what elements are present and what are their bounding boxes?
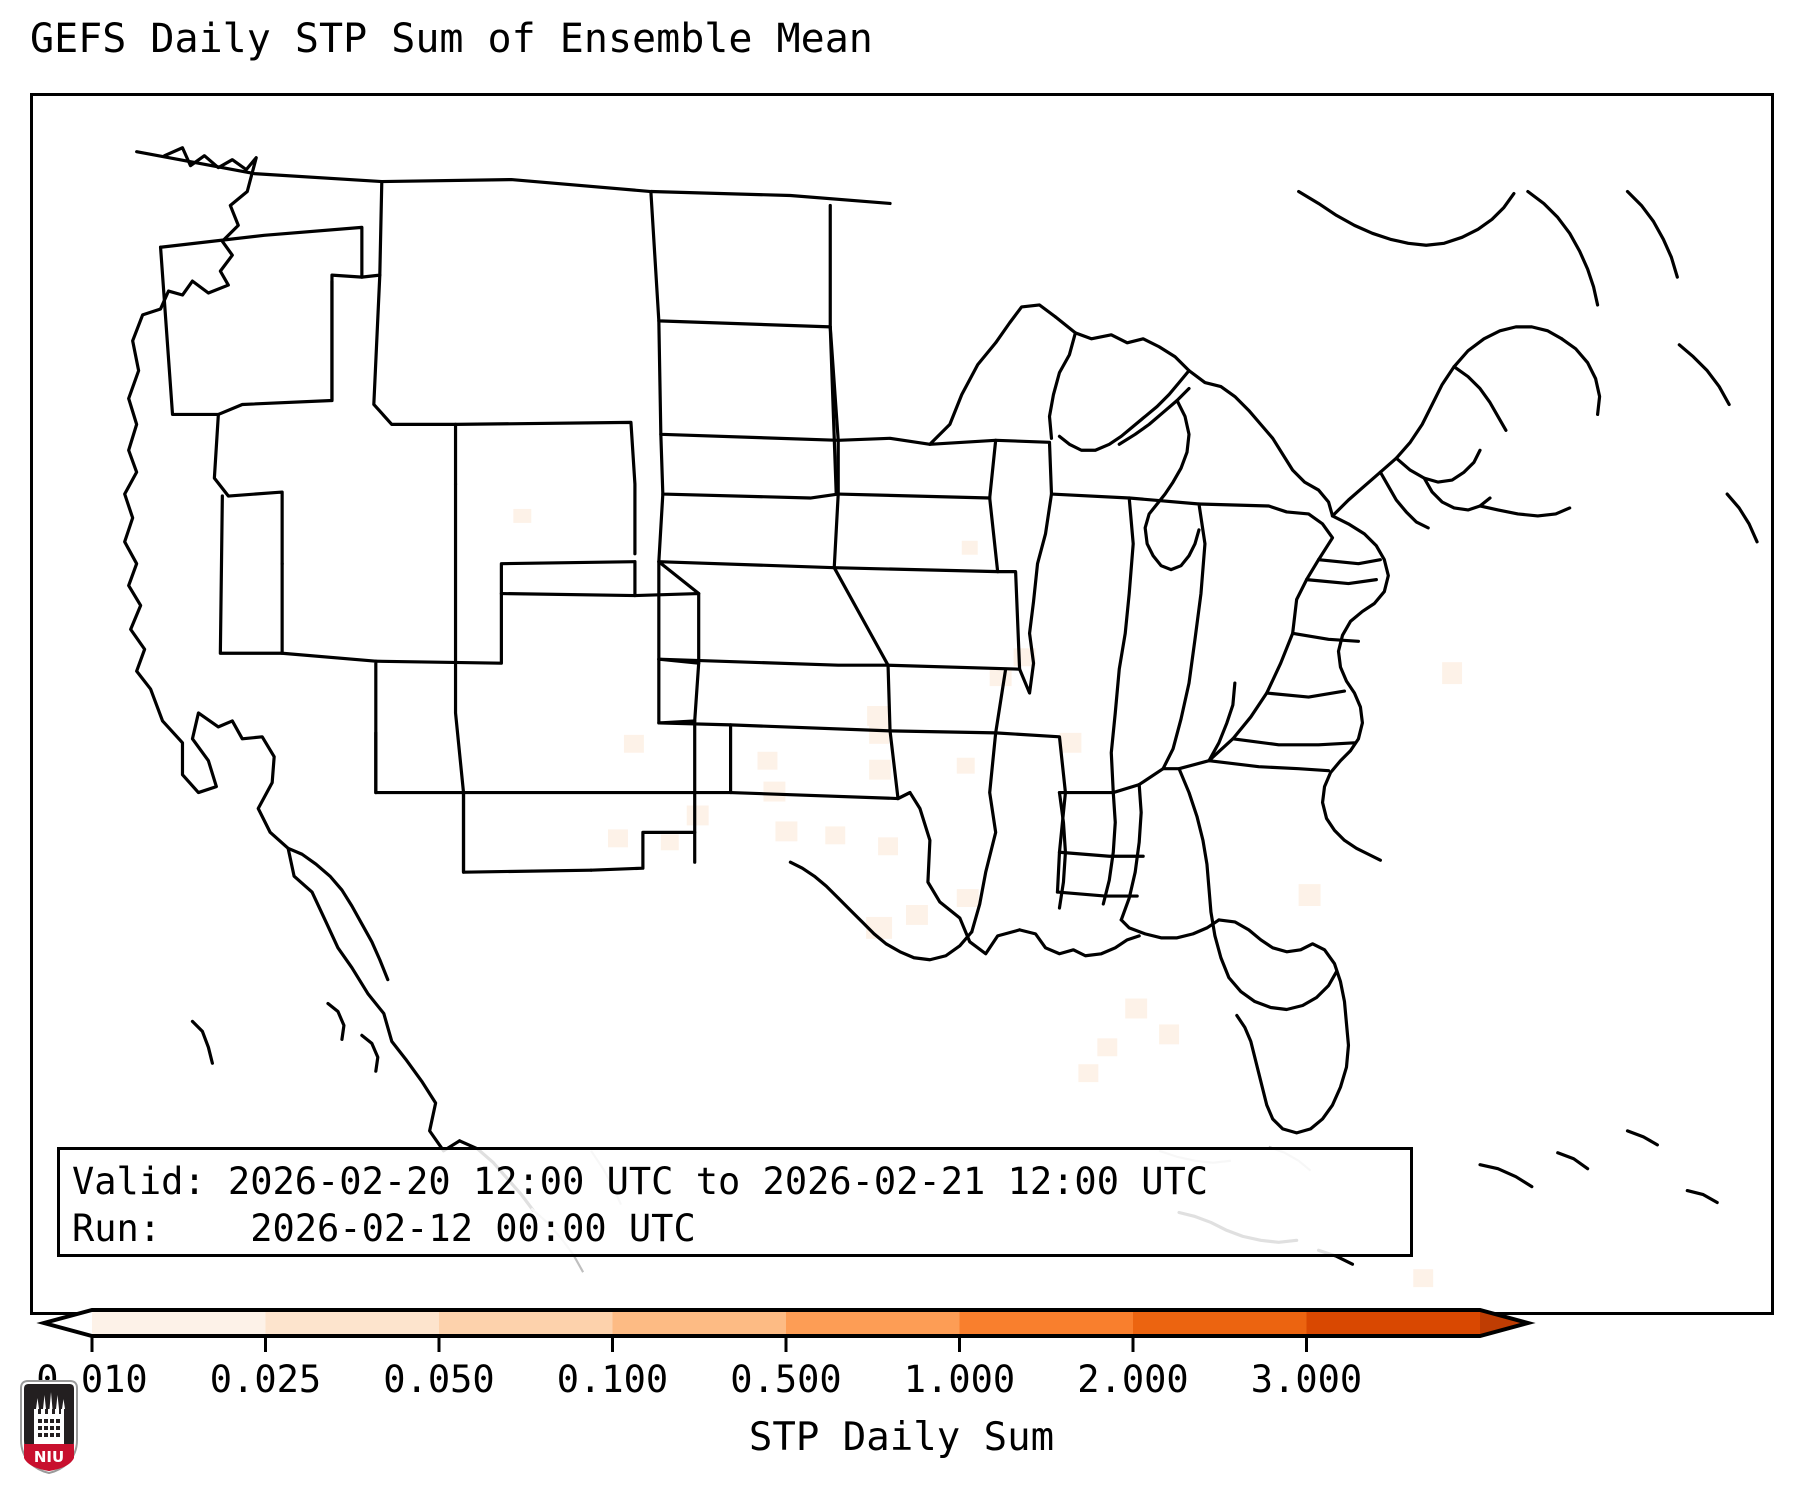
- colorbar-segments: [44, 1310, 1528, 1336]
- stp-cell: [990, 668, 1012, 686]
- stp-cell: [957, 758, 975, 774]
- colorbar-tick-label: 0.025: [210, 1358, 321, 1401]
- colorbar-axis-label: STP Daily Sum: [0, 1415, 1803, 1460]
- run-time-line: Run: 2026-02-12 00:00 UTC: [72, 1205, 1398, 1252]
- map-outlines: [125, 148, 1757, 1264]
- stp-cell: [957, 889, 979, 907]
- stp-cell: [869, 760, 891, 780]
- stp-cell: [1413, 1269, 1433, 1287]
- stp-cell: [608, 829, 628, 847]
- stp-cell: [513, 509, 531, 523]
- colorbar[interactable]: 0.0100.0250.0500.1000.5001.0002.0003.000: [0, 1300, 1803, 1500]
- colorbar-segment: [613, 1310, 787, 1336]
- stp-cell: [757, 752, 777, 770]
- colorbar-tick-label: 3.000: [1251, 1358, 1362, 1401]
- stp-cell: [1159, 1024, 1179, 1044]
- niu-shield-icon: NIU: [18, 1378, 80, 1476]
- niu-logo-text: NIU: [34, 1448, 64, 1466]
- stp-cell: [763, 782, 785, 802]
- stp-cell: [825, 826, 845, 844]
- colorbar-segment: [960, 1310, 1134, 1336]
- stp-cell: [1078, 1064, 1098, 1082]
- stp-cell: [1125, 999, 1147, 1019]
- colorbar-tick-label: 0.500: [730, 1358, 841, 1401]
- stp-cell: [624, 735, 644, 753]
- valid-time-line: Valid: 2026-02-20 12:00 UTC to 2026-02-2…: [72, 1158, 1398, 1205]
- colorbar-segment: [266, 1310, 440, 1336]
- niu-logo: NIU: [18, 1378, 80, 1476]
- colorbar-tick-label: 1.000: [904, 1358, 1015, 1401]
- figure-canvas: GEFS Daily STP Sum of Ensemble Mean: [0, 0, 1803, 1500]
- colorbar-segment: [1133, 1310, 1307, 1336]
- stp-cell: [878, 837, 898, 855]
- page-title: GEFS Daily STP Sum of Ensemble Mean: [30, 16, 873, 62]
- colorbar-segment: [439, 1310, 613, 1336]
- colorbar-segment: [786, 1310, 960, 1336]
- stp-cell: [1442, 662, 1462, 684]
- stp-cell: [1299, 884, 1321, 906]
- map-panel[interactable]: [30, 93, 1774, 1315]
- stp-cell: [775, 821, 797, 841]
- colorbar-tick-label: 0.100: [557, 1358, 668, 1401]
- stp-cell: [1059, 733, 1081, 753]
- colorbar-ticks: [92, 1336, 1307, 1352]
- info-box: Valid: 2026-02-20 12:00 UTC to 2026-02-2…: [57, 1147, 1413, 1257]
- stp-cell: [869, 726, 889, 744]
- stp-cell: [962, 541, 978, 555]
- stp-cell: [687, 805, 709, 825]
- colorbar-segment: [92, 1310, 266, 1336]
- conus-map: [33, 96, 1771, 1312]
- stp-cell: [1097, 1038, 1117, 1056]
- colorbar-tick-label: 0.050: [383, 1358, 494, 1401]
- stp-cell: [906, 905, 928, 925]
- stp-cell: [867, 706, 889, 726]
- colorbar-tick-label: 2.000: [1077, 1358, 1188, 1401]
- stp-cell: [661, 834, 679, 850]
- colorbar-segment: [1307, 1310, 1481, 1336]
